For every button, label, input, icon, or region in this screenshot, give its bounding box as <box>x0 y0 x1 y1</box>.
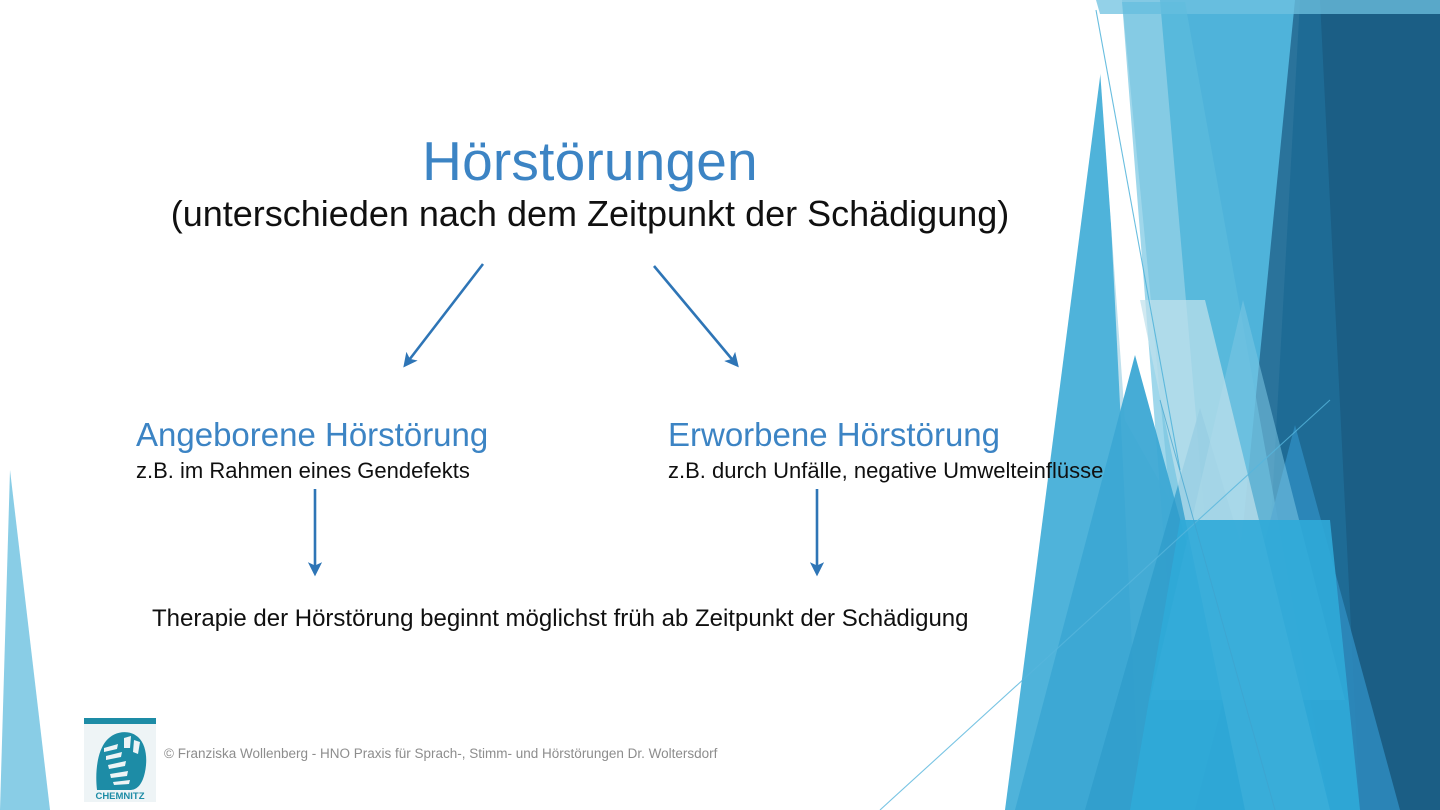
branch-acquired: Erworbene Hörstörung z.B. durch Unfälle,… <box>668 416 1103 484</box>
decor-shape-pale-wedge <box>1100 0 1230 810</box>
branch-acquired-example: z.B. durch Unfälle, negative Umwelteinfl… <box>668 458 1103 484</box>
chemnitz-logo-icon: CHEMNITZ <box>84 718 156 802</box>
page-subtitle: (unterschieden nach dem Zeitpunkt der Sc… <box>0 193 1180 235</box>
decor-left-triangle <box>0 470 50 810</box>
presentation-slide: Hörstörungen (unterschieden nach dem Zei… <box>0 0 1440 810</box>
branch-congenital-example: z.B. im Rahmen eines Gendefekts <box>136 458 488 484</box>
decor-shape-top-band <box>1096 0 1440 14</box>
title-block: Hörstörungen (unterschieden nach dem Zei… <box>0 132 1180 235</box>
arrow-down-right-icon <box>654 266 736 364</box>
decor-peak-c <box>1195 425 1400 810</box>
branch-congenital-heading: Angeborene Hörstörung <box>136 416 488 454</box>
arrow-layer <box>0 0 1440 810</box>
decor-shape-cyan-main <box>1005 0 1295 810</box>
footer-credit: © Franziska Wollenberg - HNO Praxis für … <box>164 746 717 762</box>
decor-peak-b <box>1085 408 1320 810</box>
decor-hairline-1 <box>1096 10 1180 470</box>
decor-peak-d <box>1150 300 1345 700</box>
decor-shape-light-left <box>1122 2 1330 810</box>
conclusion-statement: Therapie der Hörstörung beginnt möglichs… <box>152 604 1092 634</box>
branch-acquired-heading: Erworbene Hörstörung <box>668 416 1103 454</box>
decor-ribbon-pale <box>1140 300 1330 810</box>
decor-shape-dark-right-2 <box>1215 0 1360 810</box>
decor-shape-dark-right <box>1255 0 1440 810</box>
page-title: Hörstörungen <box>0 132 1180 191</box>
decor-hairline-3 <box>1160 400 1275 810</box>
branch-congenital: Angeborene Hörstörung z.B. im Rahmen ein… <box>136 416 488 484</box>
arrow-down-left-icon <box>406 264 483 364</box>
decor-shape-lower-cyan <box>1130 520 1360 810</box>
facet-theme-decoration <box>0 0 1440 810</box>
decor-shape-white-sliver <box>1095 0 1170 500</box>
logo-caption: CHEMNITZ <box>95 791 144 802</box>
